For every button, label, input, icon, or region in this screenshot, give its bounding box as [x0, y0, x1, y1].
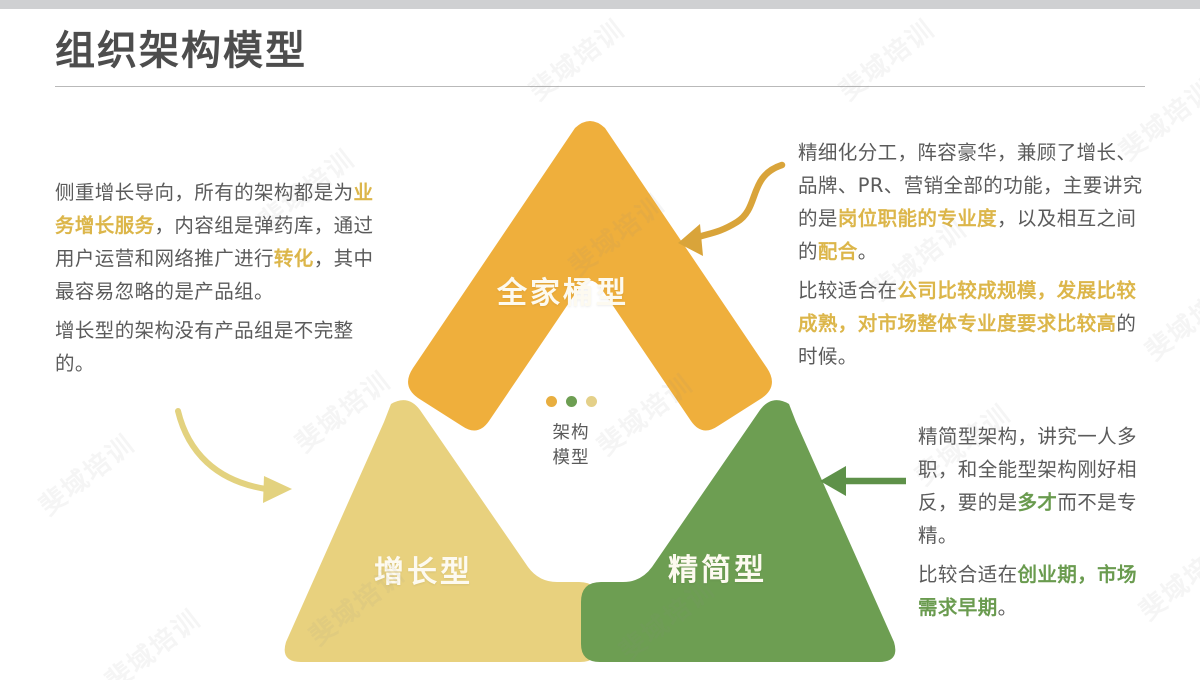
body-text: 比较适合在 [798, 279, 898, 302]
lean-paragraph-0: 精简型架构，讲究一人多职，和全能型架构刚好相反，要的是多才而不是专精。 [918, 420, 1150, 552]
body-text: 比较合适在 [918, 563, 1018, 586]
highlighted-text: 岗位职能的专业度 [838, 207, 997, 230]
highlighted-text: 配合 [818, 240, 858, 263]
full-paragraph-0: 精细化分工，阵容豪华，兼顾了增长、品牌、PR、营销全部的功能，主要讲究的是岗位职… [798, 136, 1150, 268]
dot-orange-icon [546, 396, 557, 407]
body-text: 。 [998, 596, 1018, 619]
shape-lean[interactable] [581, 400, 895, 662]
watermark: 斐域培训 [30, 424, 141, 522]
title-block: 组织架构模型 [55, 28, 1145, 87]
body-text: 侧重增长导向，所有的架构都是为 [55, 181, 354, 204]
slide-root: 组织架构模型 侧重增长导向，所有的架构都是为业务增长服务，内容组是弹药库，通过用… [0, 0, 1200, 680]
shape-label-lean: 精简型 [668, 545, 767, 589]
lean-description: 精简型架构，讲究一人多职，和全能型架构刚好相反，要的是多才而不是专精。比较合适在… [918, 420, 1150, 624]
body-text: 。 [858, 240, 878, 263]
shape-label-full-stack: 全家桶型 [497, 268, 629, 312]
hub-dots [521, 396, 621, 407]
dot-green-icon [566, 396, 577, 407]
top-accent-bar [0, 0, 1200, 9]
full-stack-description: 精细化分工，阵容豪华，兼顾了增长、品牌、PR、营销全部的功能，主要讲究的是岗位职… [798, 136, 1150, 373]
body-text: 增长型的架构没有产品组是不完整的。 [55, 319, 354, 375]
highlighted-text: 转化 [274, 247, 314, 270]
page-title: 组织架构模型 [55, 28, 1145, 74]
full-paragraph-1: 比较适合在公司比较成规模，发展比较成熟，对市场整体专业度要求比较高的时候。 [798, 274, 1150, 373]
growth-paragraph-1: 增长型的架构没有产品组是不完整的。 [55, 314, 375, 380]
title-divider [55, 86, 1145, 87]
growth-paragraph-0: 侧重增长导向，所有的架构都是为业务增长服务，内容组是弹药库，通过用户运营和网络推… [55, 176, 375, 308]
dot-yellow-icon [586, 396, 597, 407]
diagram-center-hub: 架构 模型 [521, 396, 621, 471]
highlighted-text: 多才 [1018, 491, 1058, 514]
growth-description: 侧重增长导向，所有的架构都是为业务增长服务，内容组是弹药库，通过用户运营和网络推… [55, 176, 375, 380]
hub-label-line2: 模型 [521, 446, 621, 471]
hub-label-line1: 架构 [521, 421, 621, 446]
lean-paragraph-1: 比较合适在创业期，市场需求早期。 [918, 558, 1150, 624]
watermark: 斐域培训 [96, 599, 207, 680]
shape-label-growth: 增长型 [374, 547, 473, 591]
